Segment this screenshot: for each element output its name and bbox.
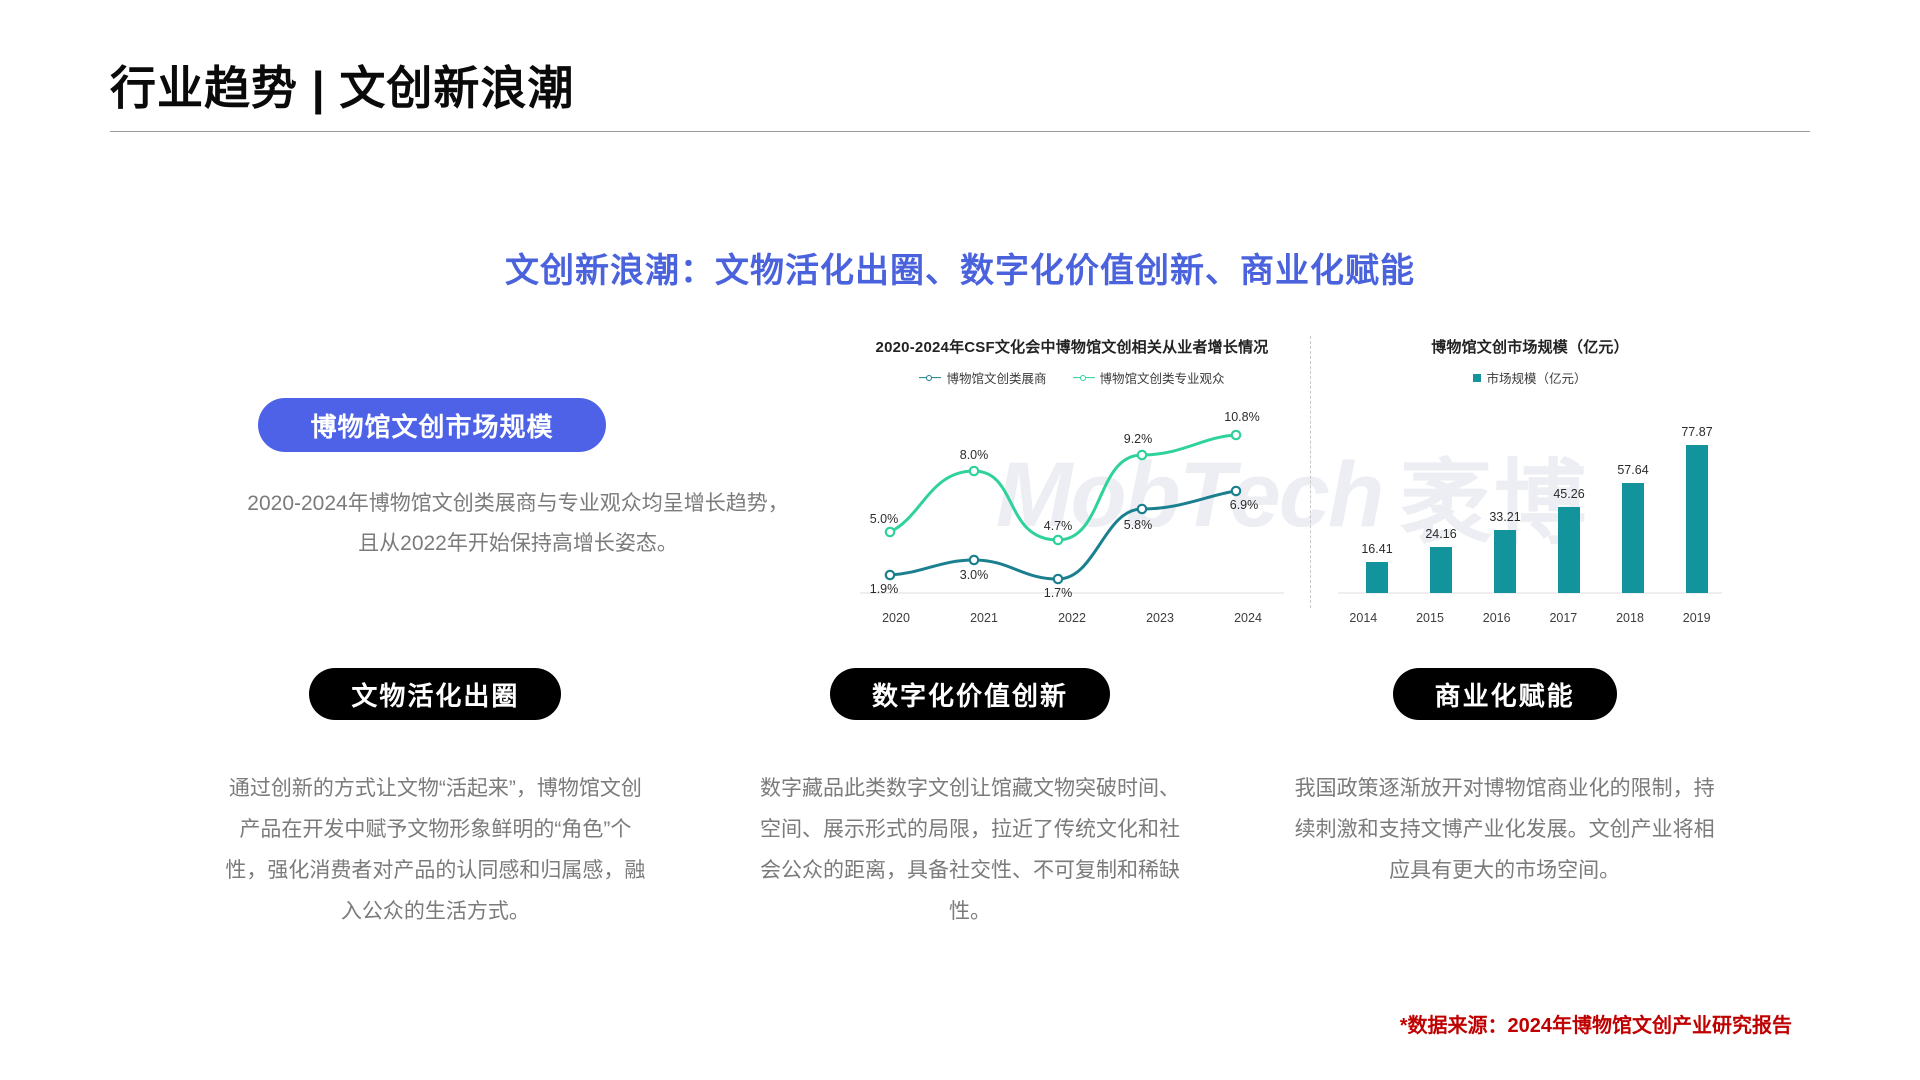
data-label: 33.21 — [1489, 510, 1520, 524]
legend-label: 市场规模（亿元） — [1486, 368, 1586, 387]
feature-description: 通过创新的方式让文物“活起来”，博物馆文创产品在开发中赋予文物形象鲜明的“角色”… — [225, 768, 645, 932]
data-label: 16.41 — [1361, 542, 1392, 556]
bar-chart-legend: 市场规模（亿元） — [1330, 368, 1730, 387]
series-point — [1232, 431, 1240, 439]
data-label: 57.64 — [1617, 463, 1648, 477]
x-tick: 2019 — [1663, 611, 1730, 625]
legend-line-icon — [919, 377, 941, 379]
header-divider — [110, 131, 1810, 132]
chart-panel: MobTech 袤博 2020-2024年CSF文化会中博物馆文创相关从业者增长… — [852, 336, 1732, 626]
data-source-footnote: *数据来源：2024年博物馆文创产业研究报告 — [1400, 1009, 1792, 1038]
legend-label: 博物馆文创类专业观众 — [1100, 368, 1225, 387]
data-label: 5.8% — [1124, 518, 1153, 532]
series-point — [1054, 575, 1062, 583]
bar — [1686, 445, 1708, 593]
page-title: 行业趋势 | 文创新浪潮 — [110, 62, 1810, 115]
bar-chart: 博物馆文创市场规模（亿元） 市场规模（亿元） 16.41 — [1330, 336, 1730, 625]
line-chart-svg: 5.0% 8.0% 4.7% 9.2% 10.8% 1.9% 3.0% 1.7%… — [852, 397, 1292, 609]
series-point — [970, 556, 978, 564]
x-tick: 2016 — [1463, 611, 1530, 625]
bar — [1558, 507, 1580, 593]
line-chart-plot: 5.0% 8.0% 4.7% 9.2% 10.8% 1.9% 3.0% 1.7%… — [852, 397, 1292, 609]
bar-chart-plot: 16.41 24.16 33.21 45.26 57.64 77.87 — [1330, 397, 1730, 609]
series-point — [1138, 505, 1146, 513]
bar-chart-x-axis: 2014 2015 2016 2017 2018 2019 — [1330, 611, 1730, 625]
legend-square-icon — [1473, 374, 1481, 382]
pill-market-size: 博物馆文创市场规模 — [258, 398, 606, 452]
data-label: 45.26 — [1553, 487, 1584, 501]
data-label: 5.0% — [870, 512, 899, 526]
legend-label: 博物馆文创类展商 — [946, 368, 1046, 387]
line-chart-legend: 博物馆文创类展商 博物馆文创类专业观众 — [852, 368, 1292, 387]
x-tick: 2014 — [1330, 611, 1397, 625]
data-label: 1.9% — [870, 582, 899, 596]
series-point — [886, 528, 894, 536]
slide-root: 行业趋势 | 文创新浪潮 文创新浪潮：文物活化出圈、数字化价值创新、商业化赋能 … — [0, 0, 1920, 1080]
x-tick: 2024 — [1204, 611, 1292, 625]
series-point — [970, 467, 978, 475]
bar-chart-title: 博物馆文创市场规模（亿元） — [1330, 336, 1730, 357]
legend-item-audience: 博物馆文创类专业观众 — [1073, 368, 1225, 387]
x-tick: 2023 — [1116, 611, 1204, 625]
pill-digital-value: 数字化价值创新 — [830, 668, 1110, 720]
series-point — [1054, 536, 1062, 544]
line-chart-title: 2020-2024年CSF文化会中博物馆文创相关从业者增长情况 — [852, 336, 1292, 357]
data-label: 3.0% — [960, 568, 989, 582]
x-tick: 2022 — [1028, 611, 1116, 625]
bar — [1366, 562, 1388, 593]
data-label: 77.87 — [1681, 425, 1712, 439]
feature-description: 数字藏品此类数字文创让馆藏文物突破时间、空间、展示形式的局限，拉近了传统文化和社… — [760, 768, 1180, 932]
feature-column-digital-value: 数字化价值创新 数字藏品此类数字文创让馆藏文物突破时间、空间、展示形式的局限，拉… — [725, 668, 1216, 932]
data-label: 1.7% — [1044, 586, 1073, 600]
series-point — [1138, 451, 1146, 459]
feature-column-cultural-relics: 文物活化出圈 通过创新的方式让文物“活起来”，博物馆文创产品在开发中赋予文物形象… — [190, 668, 681, 932]
feature-column-commercialization: 商业化赋能 我国政策逐渐放开对博物馆商业化的限制，持续刺激和支持文博产业化发展。… — [1259, 668, 1750, 932]
data-label: 24.16 — [1425, 527, 1456, 541]
legend-item-market-size: 市场规模（亿元） — [1473, 368, 1586, 387]
slide-header: 行业趋势 | 文创新浪潮 — [110, 62, 1810, 132]
pill-cultural-relics: 文物活化出圈 — [309, 668, 561, 720]
bar-chart-svg: 16.41 24.16 33.21 45.26 57.64 77.87 — [1330, 397, 1730, 609]
x-tick: 2017 — [1530, 611, 1597, 625]
data-label: 10.8% — [1224, 410, 1259, 424]
bar — [1494, 530, 1516, 593]
pill-commercialization: 商业化赋能 — [1393, 668, 1617, 720]
line-chart-x-axis: 2020 2021 2022 2023 2024 — [852, 611, 1292, 625]
legend-item-exhibitors: 博物馆文创类展商 — [919, 368, 1046, 387]
line-chart: 2020-2024年CSF文化会中博物馆文创相关从业者增长情况 博物馆文创类展商… — [852, 336, 1292, 625]
series-point — [1232, 487, 1240, 495]
x-tick: 2021 — [940, 611, 1028, 625]
series-line-exhibitors — [890, 491, 1236, 579]
x-tick: 2020 — [852, 611, 940, 625]
data-label: 4.7% — [1044, 519, 1073, 533]
feature-columns: 文物活化出圈 通过创新的方式让文物“活起来”，博物馆文创产品在开发中赋予文物形象… — [190, 668, 1750, 932]
section-subtitle: 文创新浪潮：文物活化出圈、数字化价值创新、商业化赋能 — [0, 243, 1920, 292]
legend-line-icon — [1073, 377, 1095, 379]
data-label: 9.2% — [1124, 432, 1153, 446]
data-label: 8.0% — [960, 448, 989, 462]
bar — [1430, 547, 1452, 593]
market-size-description: 2020-2024年博物馆文创类展商与专业观众均呈增长趋势，且从2022年开始保… — [238, 484, 798, 564]
chart-divider — [1310, 336, 1311, 608]
feature-description: 我国政策逐渐放开对博物馆商业化的限制，持续刺激和支持文博产业化发展。文创产业将相… — [1295, 768, 1715, 891]
series-point — [886, 571, 894, 579]
data-label: 6.9% — [1230, 498, 1259, 512]
x-tick: 2015 — [1397, 611, 1464, 625]
x-tick: 2018 — [1597, 611, 1664, 625]
bar — [1622, 483, 1644, 593]
